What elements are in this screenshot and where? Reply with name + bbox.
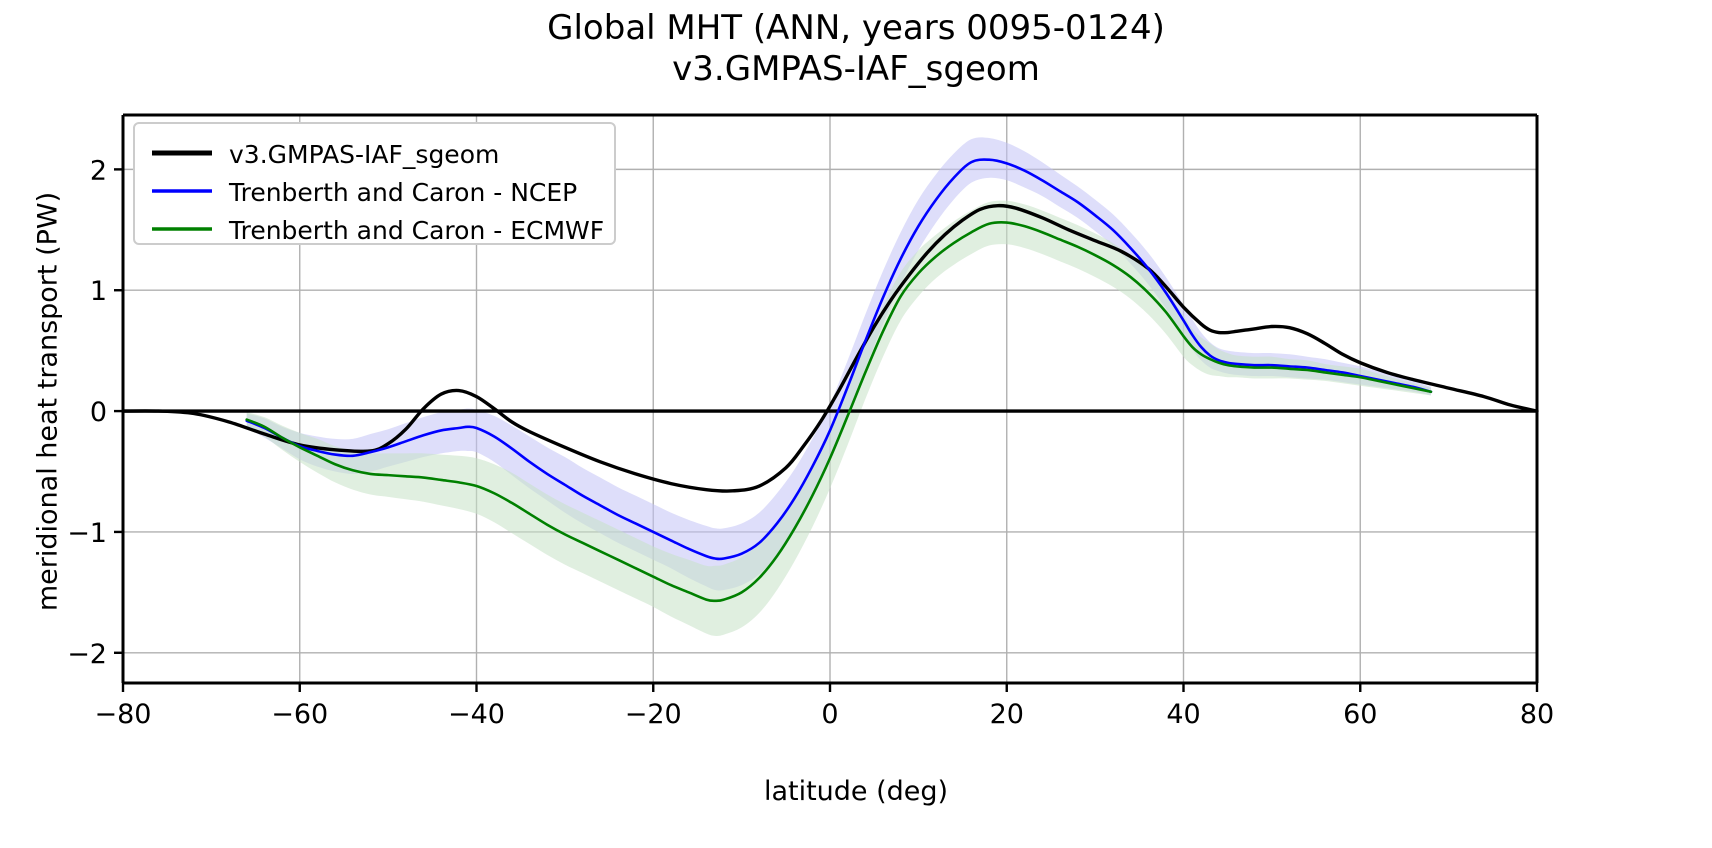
y-tick-label: −2 <box>67 639 107 670</box>
x-tick-label: 80 <box>1520 699 1554 730</box>
x-tick-label: 0 <box>821 699 838 730</box>
x-tick-label: 20 <box>990 699 1024 730</box>
y-tick-label: −1 <box>67 518 107 549</box>
figure-canvas: Global MHT (ANN, years 0095-0124) v3.GMP… <box>0 0 1712 848</box>
x-tick-label: −20 <box>625 699 682 730</box>
legend: v3.GMPAS-IAF_sgeomTrenberth and Caron - … <box>134 123 615 245</box>
y-tick-label: 0 <box>90 397 107 428</box>
x-tick-label: 60 <box>1343 699 1377 730</box>
x-tick-label: −60 <box>271 699 328 730</box>
x-tick-label: −40 <box>448 699 505 730</box>
x-tick-label: 40 <box>1166 699 1200 730</box>
x-tick-label: −80 <box>95 699 152 730</box>
legend-label-0: v3.GMPAS-IAF_sgeom <box>229 140 499 169</box>
legend-label-2: Trenberth and Caron - ECMWF <box>228 216 604 245</box>
y-tick-label: 1 <box>90 276 107 307</box>
legend-label-1: Trenberth and Caron - NCEP <box>228 178 577 207</box>
plot-svg: −80−60−40−20020406080−2−1012v3.GMPAS-IAF… <box>0 0 1712 848</box>
y-tick-label: 2 <box>90 155 107 186</box>
